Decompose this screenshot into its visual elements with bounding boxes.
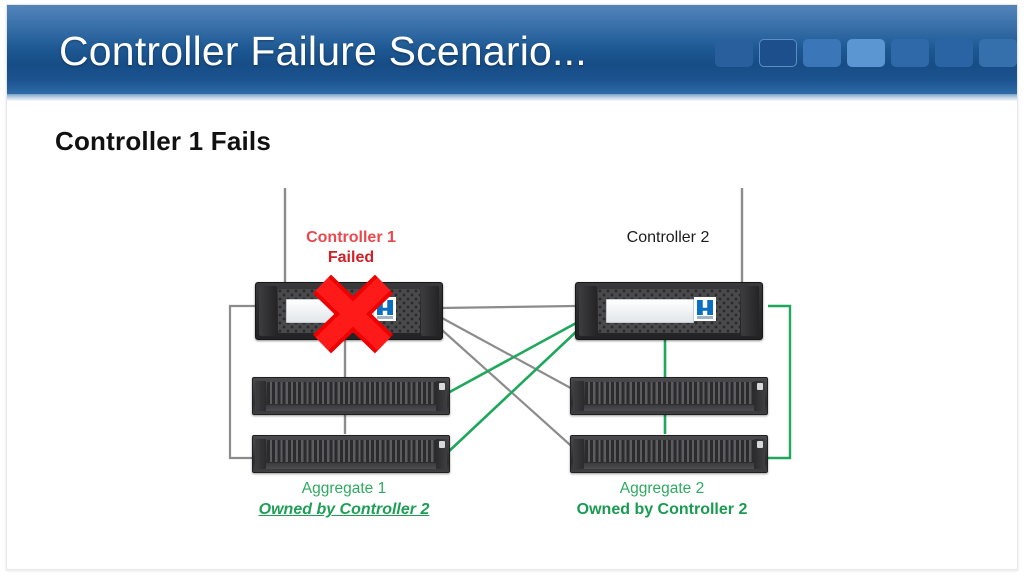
shelf-ear-left bbox=[573, 439, 584, 469]
progress-square-7[interactable] bbox=[979, 39, 1017, 67]
controller1-ear-right bbox=[421, 286, 439, 336]
controller2-label-plate bbox=[606, 299, 694, 323]
controller1-label-group: Controller 1 Failed bbox=[253, 228, 449, 268]
controller2-label: Controller 2 bbox=[570, 228, 766, 248]
netapp-logo-icon bbox=[694, 297, 716, 321]
controller2-chassis[interactable] bbox=[575, 282, 763, 340]
page-title: Controller Failure Scenario... bbox=[59, 21, 587, 81]
section-subtitle: Controller 1 Fails bbox=[55, 126, 271, 157]
aggregate1-owner: Owned by Controller 2 bbox=[246, 500, 442, 520]
shelf-strip bbox=[581, 463, 757, 469]
shelf-strip bbox=[263, 405, 439, 411]
shelf-ear-left bbox=[573, 381, 584, 411]
aggregate1-label-group: Aggregate 1 Owned by Controller 2 bbox=[246, 479, 442, 520]
aggregate2-owner: Owned by Controller 2 bbox=[564, 500, 760, 520]
controller1-label: Controller 1 bbox=[253, 228, 449, 248]
disk-bays bbox=[585, 382, 755, 404]
shelf-led-icon bbox=[439, 441, 445, 448]
shelf-strip bbox=[263, 463, 439, 469]
disk-bays bbox=[267, 382, 437, 404]
progress-square-5[interactable] bbox=[891, 39, 929, 67]
shelf-led-icon bbox=[757, 441, 763, 448]
disk-bays bbox=[267, 440, 437, 462]
failure-x-icon bbox=[305, 272, 401, 356]
controller1-ear-left bbox=[259, 286, 277, 336]
controller2-ear-right bbox=[741, 286, 759, 336]
progress-indicator bbox=[715, 39, 1017, 67]
aggregate2-label-group: Aggregate 2 Owned by Controller 2 bbox=[564, 479, 760, 520]
progress-square-6[interactable] bbox=[935, 39, 973, 67]
shelf-right-top[interactable] bbox=[570, 377, 768, 415]
controller1-status: Failed bbox=[253, 248, 449, 268]
shelf-ear-left bbox=[255, 381, 266, 411]
slide: Controller Failure Scenario... Controlle… bbox=[0, 0, 1024, 579]
progress-square-4[interactable] bbox=[847, 39, 885, 67]
aggregate1-title: Aggregate 1 bbox=[302, 480, 386, 497]
shelf-ear-left bbox=[255, 439, 266, 469]
disk-bays bbox=[585, 440, 755, 462]
progress-square-3[interactable] bbox=[803, 39, 841, 67]
shelf-left-bottom[interactable] bbox=[252, 435, 450, 473]
slide-header: Controller Failure Scenario... bbox=[7, 5, 1017, 101]
controller2-ear-left bbox=[579, 286, 597, 336]
shelf-led-icon bbox=[757, 383, 763, 390]
progress-square-1[interactable] bbox=[715, 39, 753, 67]
shelf-led-icon bbox=[439, 383, 445, 390]
shelf-left-top[interactable] bbox=[252, 377, 450, 415]
progress-square-2[interactable] bbox=[759, 39, 797, 67]
aggregate2-title: Aggregate 2 bbox=[620, 480, 704, 497]
shelf-strip bbox=[581, 405, 757, 411]
shelf-right-bottom[interactable] bbox=[570, 435, 768, 473]
